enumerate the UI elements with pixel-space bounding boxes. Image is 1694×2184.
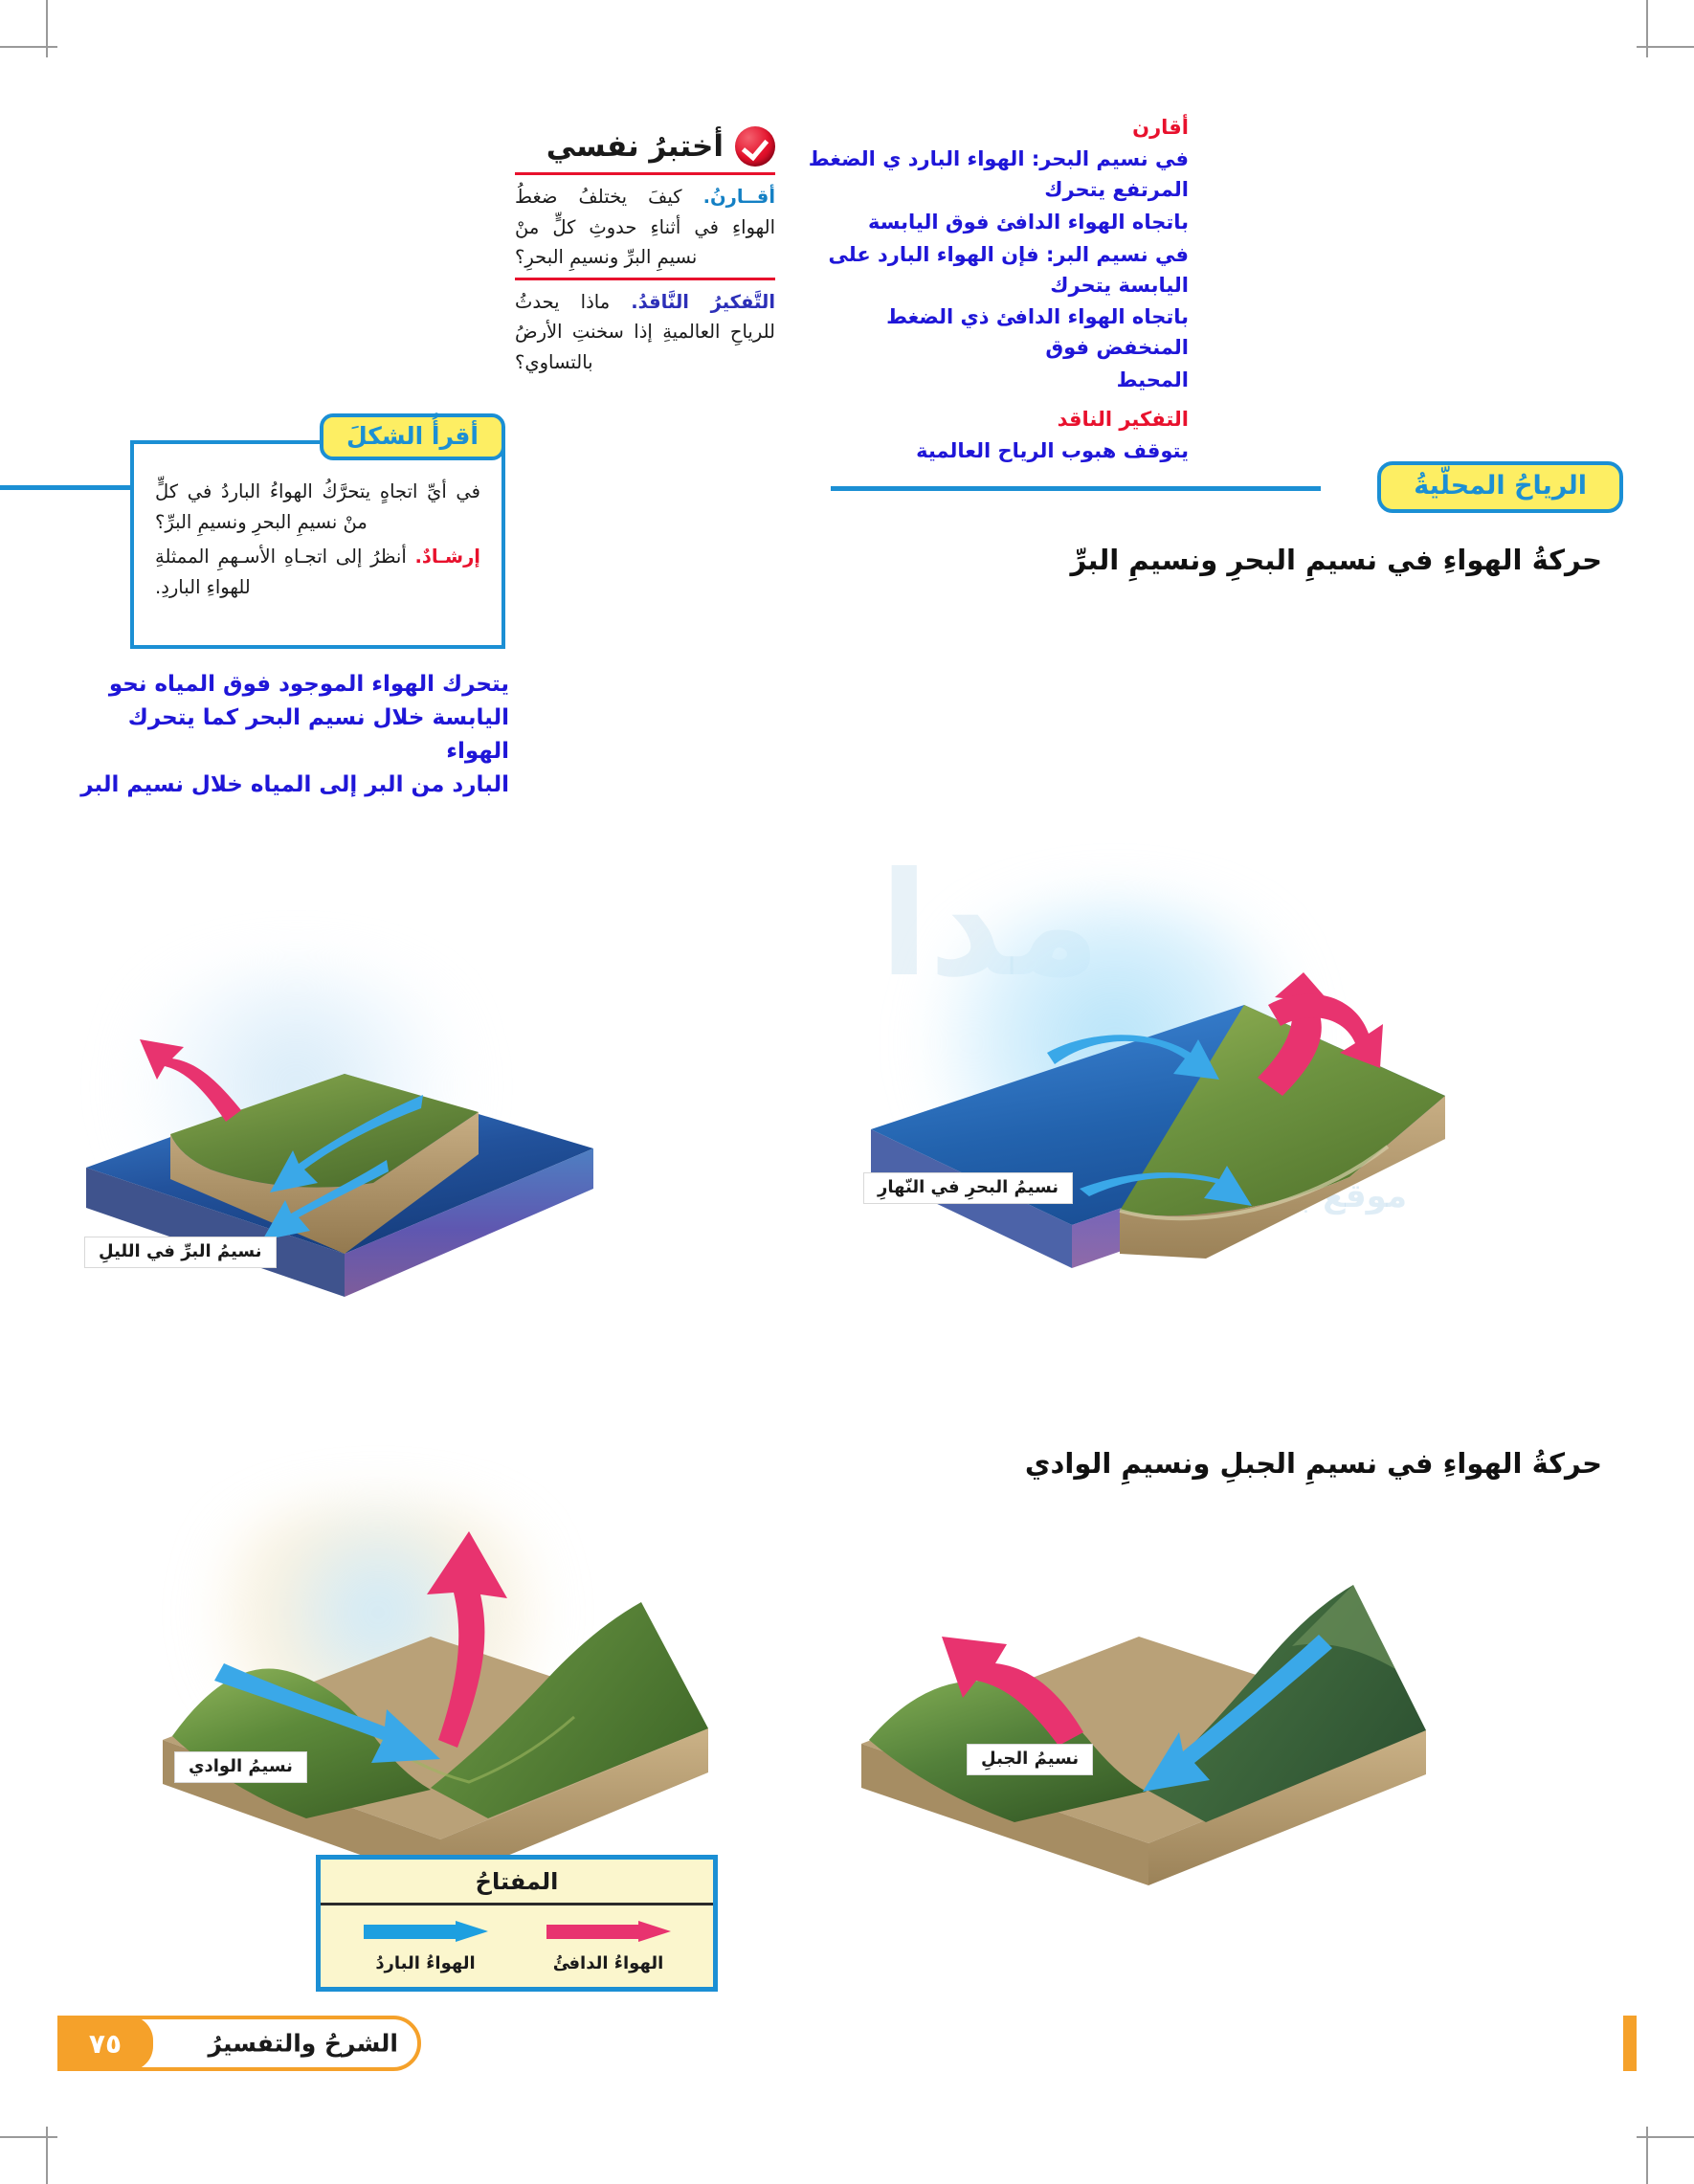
- divider-red-mid: [515, 278, 775, 280]
- crop-mark-tr-h: [1637, 46, 1694, 48]
- answer-critical-line-1: يتوقف هبوب الرياح العالمية: [794, 436, 1189, 467]
- footer-section-label: الشرحُ والتفسيرُ: [208, 2030, 398, 2058]
- self-test-question-1: أقــارنُ. كيفَ يختلفُ ضغطُ الهواءِ في أث…: [515, 182, 775, 273]
- answers-column: أقارن في نسيم البحر: الهواء البارد ي الض…: [794, 113, 1189, 469]
- figure-key-box: المفتاحُ الهواءُ الدافئُ الهواءُ الباردُ: [316, 1855, 718, 1992]
- land-breeze-night-illustration: نسيمُ البرِّ في الليلِ: [57, 967, 651, 1426]
- check-circle-icon: [735, 126, 775, 167]
- crop-mark-tl-h: [0, 46, 57, 48]
- answer-compare-line-5: المحيط: [794, 366, 1189, 396]
- caption-valley-breeze: نسيمُ الوادي: [174, 1751, 307, 1783]
- sea-breeze-day-svg: [833, 890, 1455, 1426]
- question-1-lead: أقــارنُ.: [703, 186, 775, 208]
- key-title: المفتاحُ: [321, 1860, 713, 1905]
- land-breeze-night-svg: [57, 967, 651, 1426]
- key-items-row: الهواءُ الدافئُ الهواءُ الباردُ: [321, 1905, 713, 1987]
- self-test-question-2: التَّفكيرُ النَّاقدُ. ماذا يحدثُ للرياحِ…: [515, 287, 775, 378]
- mountain-breeze-svg: [842, 1493, 1455, 1885]
- crop-mark-tl-v: [46, 0, 48, 57]
- key-item-warm-air: الهواءُ الدافئُ: [524, 1921, 693, 1973]
- crop-mark-bl-v: [46, 2127, 48, 2184]
- answer-compare-line-2: باتجاه الهواء الدافئ فوق اليابسة: [794, 208, 1189, 238]
- read-figure-question: في أيِّ اتجاهٍ يتحرَّكُ الهواءُ الباردُ …: [155, 477, 480, 538]
- crop-mark-br-h: [1637, 2136, 1694, 2138]
- self-test-title: أختبرُ نفسي: [546, 129, 724, 164]
- caption-land-breeze-night: نسيمُ البرِّ في الليلِ: [84, 1237, 277, 1268]
- caption-mountain-breeze: نسيمُ الجبلِ: [967, 1744, 1093, 1775]
- crop-mark-tr-v: [1646, 0, 1648, 57]
- answer-compare-heading: أقارن: [794, 113, 1189, 144]
- read-figure-box: في أيِّ اتجاهٍ يتحرَّكُ الهواءُ الباردُ …: [130, 440, 505, 649]
- divider-red-top: [515, 172, 775, 175]
- valley-breeze-figure-heading: حركةُ الهواءِ في نسيمِ الجبلِ ونسيمِ الو…: [1025, 1447, 1602, 1480]
- crop-mark-br-v: [1646, 2127, 1648, 2184]
- air-movement-note-line-3: البارد من البر إلى المياه خلال نسيم البر: [63, 769, 509, 802]
- crop-mark-bl-h: [0, 2136, 57, 2138]
- footer-orange-accent: [1623, 2016, 1637, 2071]
- self-test-title-row: أختبرُ نفسي: [515, 126, 775, 167]
- warm-air-arrow-night: [140, 1039, 241, 1122]
- sea-breeze-figure-heading: حركةُ الهواءِ في نسيمِ البحرِ ونسيمِ الب…: [1070, 544, 1602, 576]
- valley-breeze-svg: [144, 1503, 737, 1885]
- key-label-cold-air: الهواءُ الباردُ: [342, 1953, 510, 1973]
- sea-breeze-day-illustration: نسيمُ البحرِ في النّهارِ: [833, 890, 1455, 1426]
- question-2-lead: التَّفكيرُ النَّاقدُ.: [631, 291, 775, 313]
- caption-sea-breeze-day: نسيمُ البحرِ في النّهارِ: [863, 1172, 1073, 1204]
- local-winds-rule: [831, 486, 1321, 491]
- local-winds-heading: الرياحُ المحلّيةُ: [1377, 461, 1623, 513]
- mountain-breeze-illustration: نسيمُ الجبلِ: [842, 1493, 1455, 1885]
- answer-critical-heading: التفكير الناقد: [794, 405, 1189, 435]
- air-movement-note-line-2: اليابسة خلال نسيم البحر كما يتحرك الهواء: [63, 702, 509, 769]
- air-movement-note-line-1: يتحرك الهواء الموجود فوق المياه نحو: [63, 668, 509, 702]
- key-label-warm-air: الهواءُ الدافئُ: [524, 1953, 693, 1973]
- key-item-cold-air: الهواءُ الباردُ: [342, 1921, 510, 1973]
- answer-compare-line-4: باتجاه الهواء الدافئ ذي الضغط المنخفض فو…: [794, 302, 1189, 364]
- arrow-right-icon-cold: [364, 1921, 488, 1942]
- read-figure-connector-rule: [0, 485, 130, 490]
- read-figure-hint-lead: إرشـادٌ.: [415, 546, 481, 568]
- self-test-block: أختبرُ نفسي أقــارنُ. كيفَ يختلفُ ضغطُ ا…: [515, 126, 775, 381]
- read-figure-hint-text: أنظرُ إلى اتجـاهِ الأسـهمِ الممثلةِ للهو…: [155, 546, 407, 598]
- answer-compare-line-3: في نسيم البر: فإن الهواء البارد على اليا…: [794, 240, 1189, 301]
- valley-breeze-illustration: نسيمُ الوادي: [144, 1503, 737, 1885]
- textbook-page: مدا موقع بداية التعليم أقارن في نسيم الب…: [0, 0, 1694, 2184]
- page-footer: الشرحُ والتفسيرُ ٧٥: [57, 2016, 421, 2071]
- air-movement-note: يتحرك الهواء الموجود فوق المياه نحو اليا…: [54, 660, 519, 810]
- read-figure-hint: إرشـادٌ. أنظرُ إلى اتجـاهِ الأسـهمِ المم…: [155, 542, 480, 603]
- answer-compare-line-1: في نسيم البحر: الهواء البارد ي الضغط الم…: [794, 145, 1189, 206]
- read-figure-tab-label: أقرأُ الشكلَ: [320, 413, 505, 460]
- arrow-right-icon-warm: [546, 1921, 671, 1942]
- page-number: ٧٥: [57, 2016, 153, 2071]
